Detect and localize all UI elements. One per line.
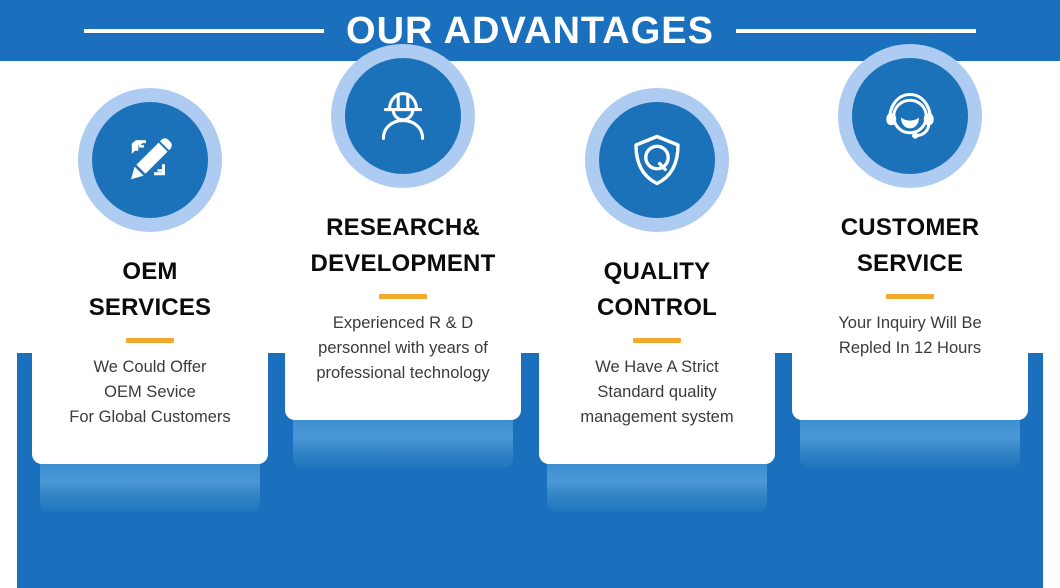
headset-support-icon	[852, 58, 968, 174]
card-body-line-2: personnel with years of	[293, 336, 513, 361]
advantage-card-oem-services: OEM SERVICES We Could Offer OEM Sevice F…	[32, 244, 268, 464]
header-rule-left-icon	[84, 29, 324, 33]
card-reflection	[800, 420, 1020, 468]
card-body-line-1: We Have A Strict	[547, 355, 767, 380]
card-title-line-2: SERVICES	[40, 290, 260, 326]
card-divider-icon	[126, 338, 174, 343]
card-reflection	[40, 464, 260, 512]
pencil-ruler-icon	[92, 102, 208, 218]
advantage-column-customer-service: CUSTOMER SERVICE Your Inquiry Will Be Re…	[792, 44, 1028, 468]
card-reflection	[293, 420, 513, 468]
icon-badge-research-development	[331, 44, 475, 188]
card-body-line-1: Your Inquiry Will Be	[800, 311, 1020, 336]
engineer-hardhat-icon	[345, 58, 461, 174]
header-rule-right-icon	[736, 29, 976, 33]
card-body-line-3: For Global Customers	[40, 405, 260, 430]
card-divider-icon	[886, 294, 934, 299]
card-title-line-1: QUALITY	[547, 254, 767, 290]
card-divider-icon	[633, 338, 681, 343]
icon-badge-customer-service	[838, 44, 982, 188]
advantage-card-research-development: RESEARCH& DEVELOPMENT Experienced R & D …	[285, 200, 521, 420]
icon-badge-quality-control	[585, 88, 729, 232]
icon-badge-oem-services	[78, 88, 222, 232]
advantage-column-research-development: RESEARCH& DEVELOPMENT Experienced R & D …	[285, 44, 521, 468]
card-body-line-3: management system	[547, 405, 767, 430]
card-body-line-2: Repled In 12 Hours	[800, 336, 1020, 361]
card-title-line-2: CONTROL	[547, 290, 767, 326]
advantage-card-quality-control: QUALITY CONTROL We Have A Strict Standar…	[539, 244, 775, 464]
card-body-line-2: OEM Sevice	[40, 380, 260, 405]
card-body-line-1: Experienced R & D	[293, 311, 513, 336]
card-title-line-2: DEVELOPMENT	[293, 246, 513, 282]
card-body-line-2: Standard quality	[547, 380, 767, 405]
card-title-line-1: OEM	[40, 254, 260, 290]
shield-q-icon	[599, 102, 715, 218]
card-body-line-3: professional technology	[293, 361, 513, 386]
advantage-column-quality-control: QUALITY CONTROL We Have A Strict Standar…	[539, 88, 775, 512]
card-divider-icon	[379, 294, 427, 299]
advantage-card-customer-service: CUSTOMER SERVICE Your Inquiry Will Be Re…	[792, 200, 1028, 420]
advantage-column-oem-services: OEM SERVICES We Could Offer OEM Sevice F…	[32, 88, 268, 512]
card-title-line-1: RESEARCH&	[293, 210, 513, 246]
card-body-line-1: We Could Offer	[40, 355, 260, 380]
card-reflection	[547, 464, 767, 512]
card-title-line-2: SERVICE	[800, 246, 1020, 282]
card-title-line-1: CUSTOMER	[800, 210, 1020, 246]
